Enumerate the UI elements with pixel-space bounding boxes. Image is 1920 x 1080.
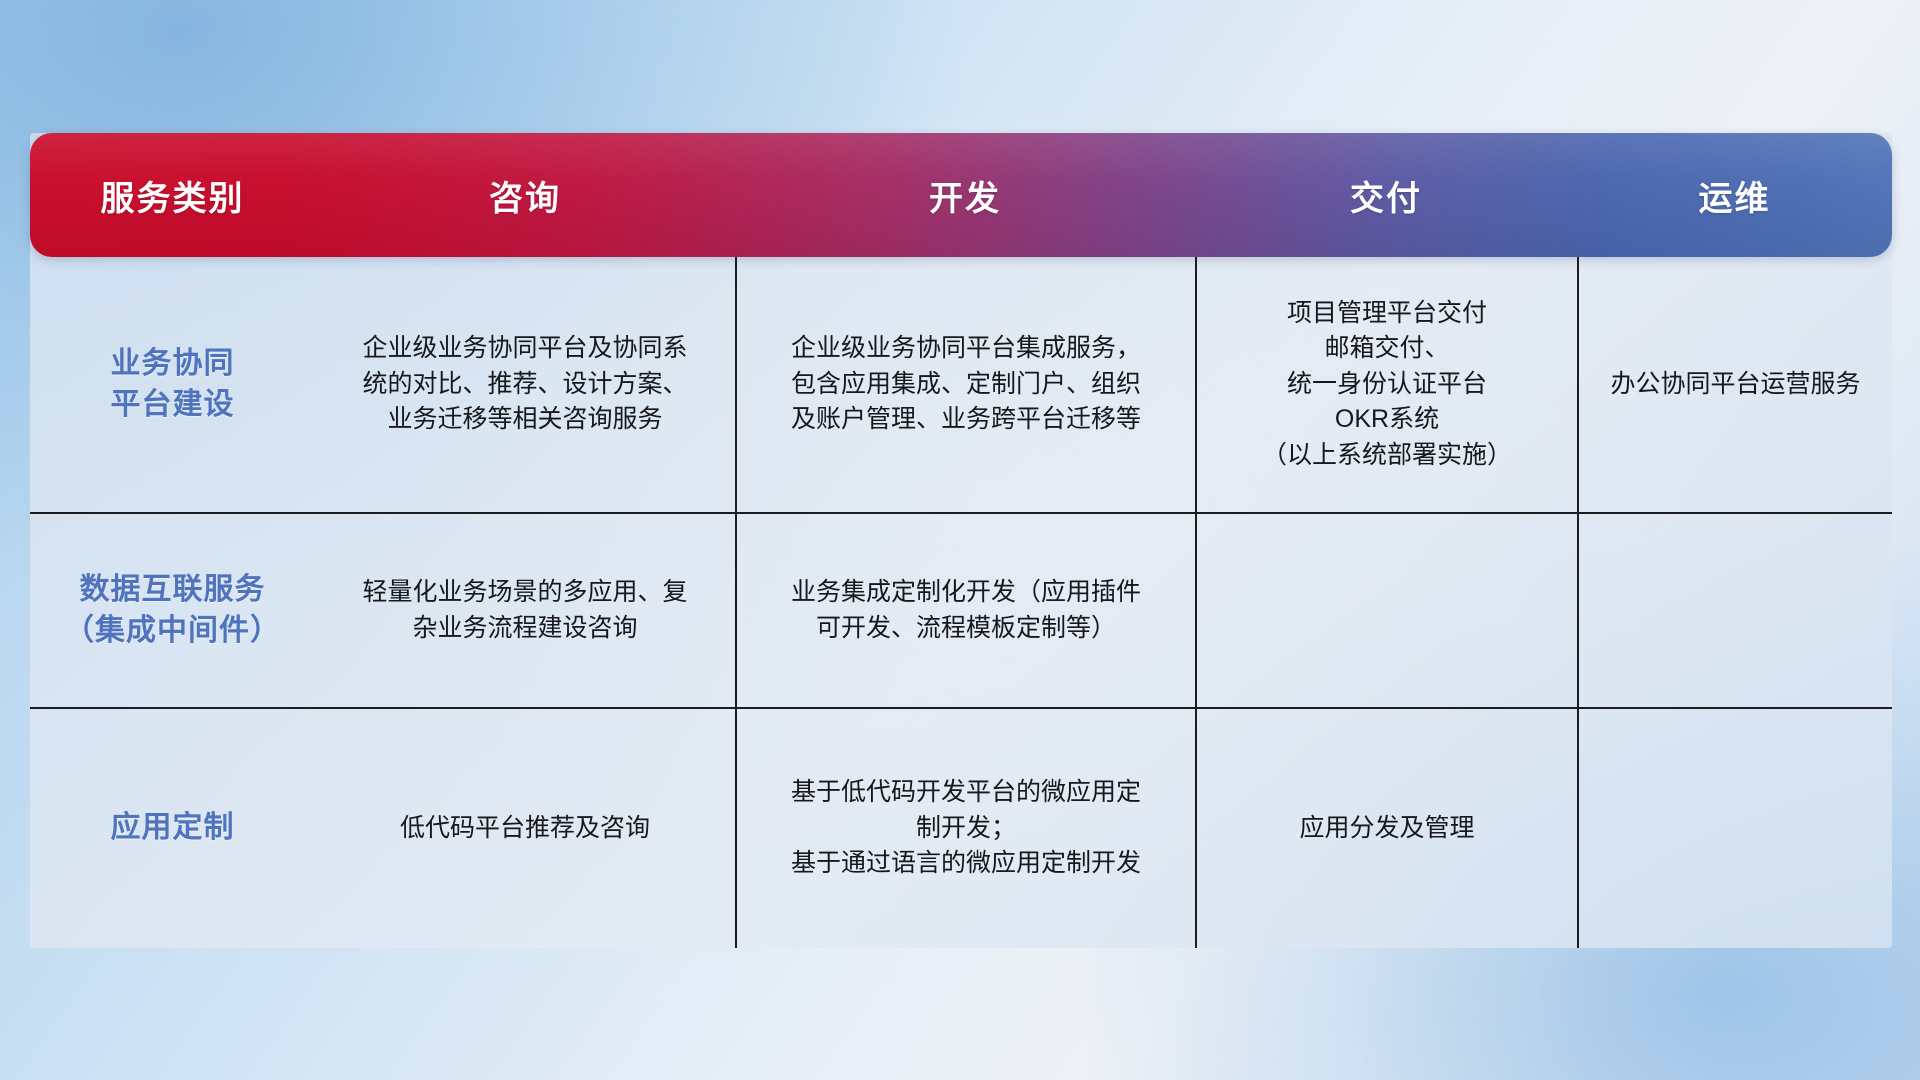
table-row: 业务协同 平台建设 企业级业务协同平台及协同系 统的对比、推荐、设计方案、 业务… <box>30 257 1892 512</box>
cell-row2-consulting: 轻量化业务场景的多应用、复 杂业务流程建设咨询 <box>315 514 735 707</box>
row-label-data-interconnect: 数据互联服务 （集成中间件） <box>30 514 315 707</box>
cell-row2-delivery <box>1195 514 1577 707</box>
cell-row3-operations <box>1577 709 1892 948</box>
table-header-bar: 服务类别 咨询 开发 交付 运维 <box>30 133 1892 257</box>
cell-row2-development: 业务集成定制化开发（应用插件 可开发、流程模板定制等） <box>735 514 1195 707</box>
table-grid: 业务协同 平台建设 企业级业务协同平台及协同系 统的对比、推荐、设计方案、 业务… <box>30 257 1892 948</box>
table-row: 数据互联服务 （集成中间件） 轻量化业务场景的多应用、复 杂业务流程建设咨询 业… <box>30 512 1892 707</box>
cell-row3-development: 基于低代码开发平台的微应用定 制开发； 基于通过语言的微应用定制开发 <box>735 709 1195 948</box>
service-matrix-table: 服务类别 咨询 开发 交付 运维 业务协同 平台建设 企业级业务协同平台及协同系… <box>30 133 1892 948</box>
cell-row1-delivery: 项目管理平台交付 邮箱交付、 统一身份认证平台 OKR系统 （以上系统部署实施） <box>1195 257 1577 512</box>
table-row: 应用定制 低代码平台推荐及咨询 基于低代码开发平台的微应用定 制开发； 基于通过… <box>30 707 1892 948</box>
cell-row3-consulting: 低代码平台推荐及咨询 <box>315 709 735 948</box>
column-header-consulting: 咨询 <box>315 171 735 220</box>
column-header-delivery: 交付 <box>1195 171 1577 220</box>
row-label-business-collaboration: 业务协同 平台建设 <box>30 257 315 512</box>
cell-row1-operations: 办公协同平台运营服务 <box>1577 257 1892 512</box>
column-header-operations: 运维 <box>1577 171 1892 220</box>
cell-row1-development: 企业级业务协同平台集成服务， 包含应用集成、定制门户、组织 及账户管理、业务跨平… <box>735 257 1195 512</box>
cell-row3-delivery: 应用分发及管理 <box>1195 709 1577 948</box>
slide-canvas: 服务类别 咨询 开发 交付 运维 业务协同 平台建设 企业级业务协同平台及协同系… <box>0 0 1920 1080</box>
column-header-development: 开发 <box>735 171 1195 220</box>
table-header-row: 服务类别 咨询 开发 交付 运维 <box>30 133 1892 257</box>
cell-row2-operations <box>1577 514 1892 707</box>
row-label-app-customization: 应用定制 <box>30 709 315 948</box>
cell-row1-consulting: 企业级业务协同平台及协同系 统的对比、推荐、设计方案、 业务迁移等相关咨询服务 <box>315 257 735 512</box>
column-header-category: 服务类别 <box>30 171 315 220</box>
